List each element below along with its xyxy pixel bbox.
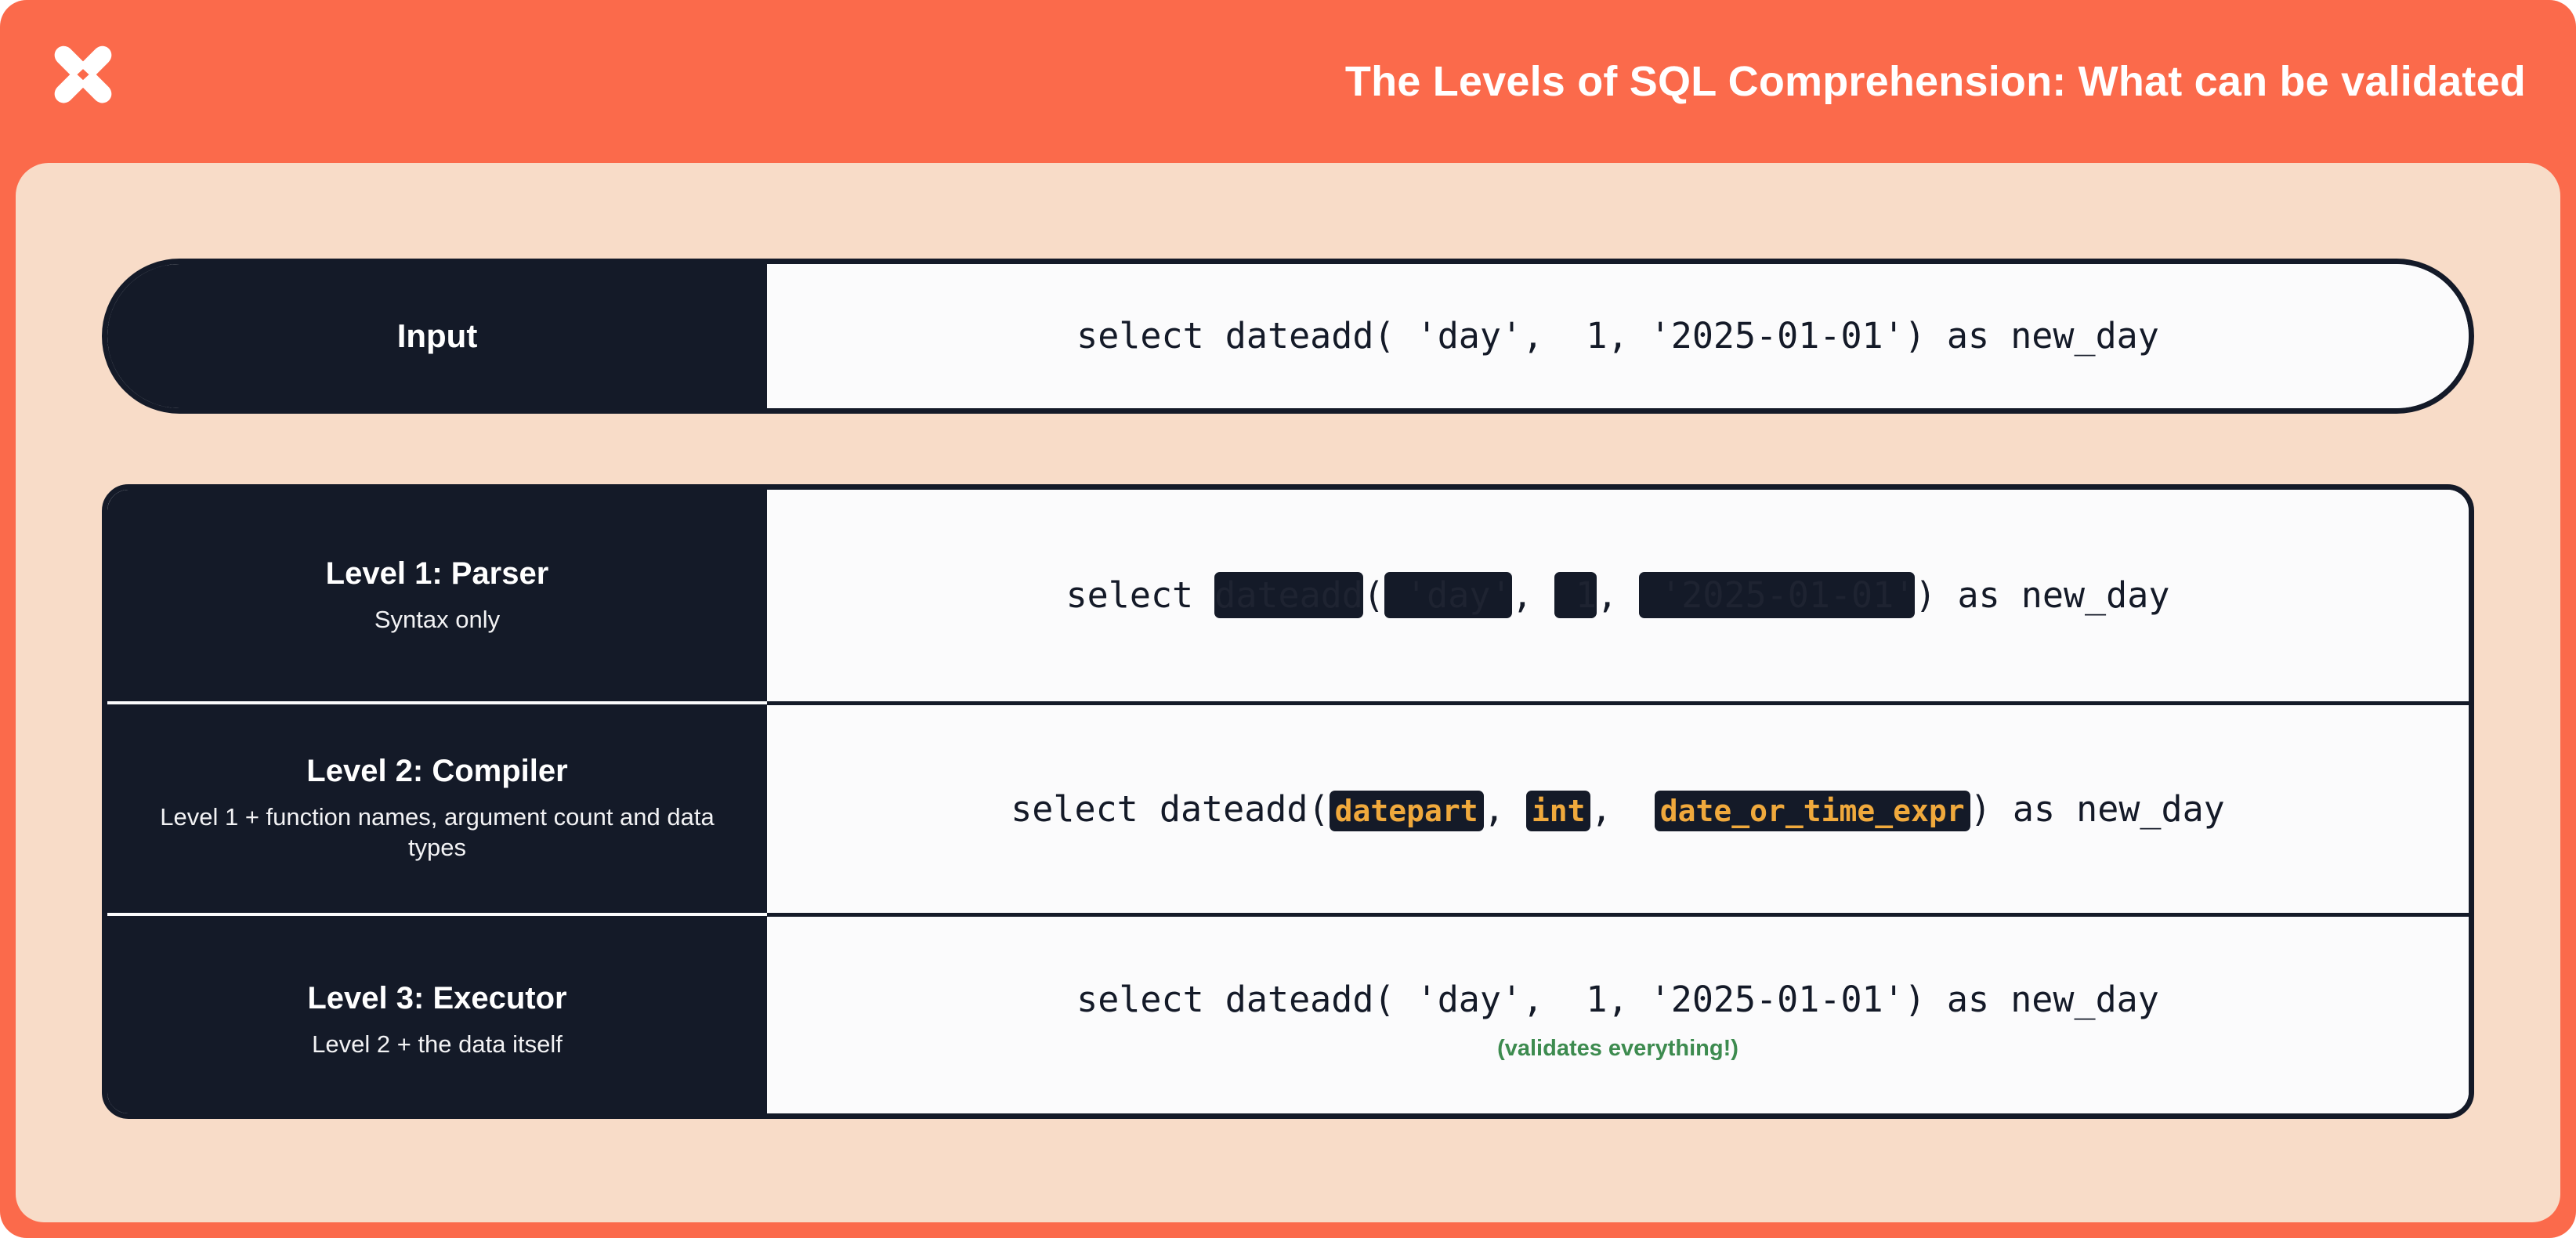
- content-panel: Input select dateadd( 'day', 1, '2025-01…: [16, 163, 2560, 1222]
- level-2-sql-code: select dateadd(datepart, int, date_or_ti…: [1011, 789, 2225, 830]
- type-placeholder-token: datepart: [1330, 791, 1484, 831]
- level-3-code-cell: select dateadd( 'day', 1, '2025-01-01') …: [767, 917, 2469, 1119]
- level-2-code-cell: select dateadd(datepart, int, date_or_ti…: [767, 705, 2469, 913]
- code-token: ,: [1597, 574, 1639, 616]
- page-title: The Levels of SQL Comprehension: What ca…: [1345, 57, 2526, 106]
- code-token: ,: [1484, 788, 1526, 830]
- type-placeholder-token: int: [1526, 791, 1591, 831]
- level-3-sql-code: select dateadd( 'day', 1, '2025-01-01') …: [1076, 979, 2159, 1020]
- level-1-code-cell: select dateadd( 'day', 1, '2025-01-01') …: [767, 490, 2469, 701]
- level-2-subtitle: Level 1 + function names, argument count…: [143, 802, 731, 863]
- input-row-label: Input: [107, 264, 767, 408]
- redacted-token: 1: [1554, 572, 1597, 618]
- level-row: Level 2: Compiler Level 1 + function nam…: [107, 701, 2469, 913]
- type-placeholder-token: date_or_time_expr: [1655, 791, 1970, 831]
- code-token: ,: [1512, 574, 1554, 616]
- code-token: select dateadd(: [1011, 788, 1329, 830]
- header-bar: The Levels of SQL Comprehension: What ca…: [0, 0, 2576, 163]
- input-row-card: Input select dateadd( 'day', 1, '2025-01…: [102, 259, 2474, 414]
- input-sql-code: select dateadd( 'day', 1, '2025-01-01') …: [1076, 316, 2159, 357]
- code-token: ) as new_day: [1915, 574, 2169, 616]
- input-row-code-cell: select dateadd( 'day', 1, '2025-01-01') …: [767, 264, 2469, 408]
- level-row: Level 3: Executor Level 2 + the data its…: [107, 913, 2469, 1119]
- code-token: ) as new_day: [1970, 788, 2225, 830]
- level-3-title: Level 3: Executor: [307, 981, 566, 1016]
- level-3-label: Level 3: Executor Level 2 + the data its…: [107, 913, 767, 1119]
- level-3-subtitle: Level 2 + the data itself: [312, 1029, 563, 1060]
- code-token: select dateadd( 'day', 1, '2025-01-01') …: [1076, 979, 2159, 1020]
- level-1-sql-code: select dateadd( 'day', 1, '2025-01-01') …: [1066, 575, 2170, 616]
- x-starburst-logo-icon: [41, 42, 125, 126]
- redacted-token: '2025-01-01': [1639, 572, 1915, 618]
- level-2-title: Level 2: Compiler: [306, 754, 567, 789]
- level-row: Level 1: Parser Syntax only select datea…: [107, 490, 2469, 701]
- level-2-label: Level 2: Compiler Level 1 + function nam…: [107, 701, 767, 913]
- poster-frame: The Levels of SQL Comprehension: What ca…: [0, 0, 2576, 1238]
- level-1-label: Level 1: Parser Syntax only: [107, 490, 767, 701]
- validates-everything-note: (validates everything!): [1497, 1036, 1738, 1062]
- code-token: select: [1066, 574, 1215, 616]
- level-1-title: Level 1: Parser: [326, 556, 549, 592]
- redacted-token: 'day': [1384, 572, 1512, 618]
- level-1-subtitle: Syntax only: [374, 604, 500, 635]
- code-token: ,: [1590, 788, 1654, 830]
- code-token: (: [1363, 574, 1384, 616]
- levels-card: Level 1: Parser Syntax only select datea…: [102, 484, 2474, 1119]
- redacted-token: dateadd: [1214, 572, 1363, 618]
